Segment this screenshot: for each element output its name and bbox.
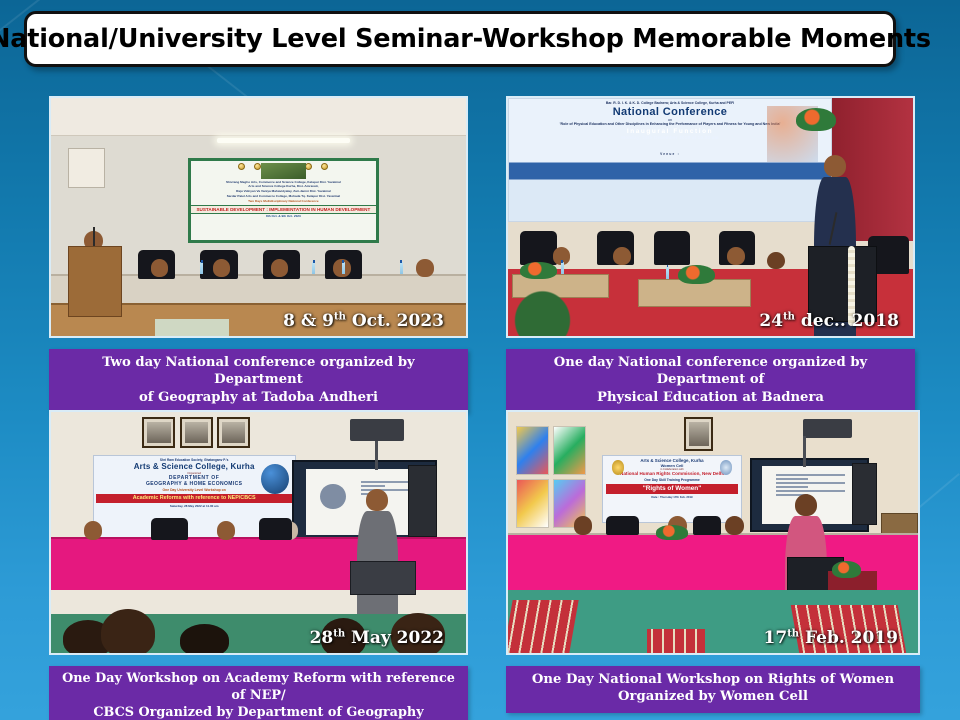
loudspeaker [852, 463, 877, 526]
projector-arm [375, 441, 378, 470]
caption-line-1: One day National conference organized by… [554, 355, 867, 387]
head [416, 259, 433, 276]
photo-frame-3: Shri Ram Education Society, Ghatanganv P… [49, 410, 468, 655]
globe-graphic [261, 464, 289, 494]
logo-icon [238, 163, 245, 170]
potted-plant [508, 284, 577, 336]
framed-portrait [217, 417, 250, 448]
banner-subhead: Two Days Multidisciplinary National Conf… [191, 199, 376, 204]
seated-dignitary [416, 259, 433, 276]
head [366, 489, 388, 511]
photo-frame-2: Bar. R. D. I. K. & K. D. College Badnera… [506, 96, 915, 338]
photo-scene-2: Bar. R. D. I. K. & K. D. College Badnera… [508, 98, 913, 336]
head [725, 516, 744, 535]
childrens-artwork [516, 426, 549, 474]
seated-panelist-female [725, 516, 744, 535]
carpet-runner [647, 629, 704, 653]
flower-arrangement [520, 262, 556, 279]
head [213, 259, 230, 276]
flower-pot [832, 561, 861, 578]
head [613, 247, 631, 265]
seated-panelist-female [574, 516, 593, 535]
head [271, 259, 288, 276]
water-bottle [312, 262, 315, 274]
flower-arrangement [796, 108, 837, 132]
projector [350, 419, 404, 441]
banner-photo [261, 163, 305, 179]
photo-caption-3: One Day Workshop on Academy Reform with … [49, 666, 468, 720]
photo-card-3: Shri Ram Education Society, Ghatanganv P… [49, 410, 468, 702]
title-box: National/University Level Seminar-Worksh… [24, 11, 896, 67]
chair [654, 231, 690, 264]
seated-panelist [217, 521, 235, 539]
seated-dignitary [151, 259, 168, 276]
banner-host: Bar. R. D. I. K. & K. D. College Badnera… [509, 101, 831, 105]
microphone [93, 227, 95, 246]
date-stamp-4: 17th Feb. 2019 [764, 628, 898, 648]
slide-text-line [776, 490, 845, 492]
slide-text-line [776, 486, 808, 488]
banner-when: Date : Thursday 17th Feb. 2019 [603, 495, 740, 499]
caption-line-2: Organized by Women Cell [514, 688, 912, 705]
head [727, 247, 745, 265]
date-stamp-3: 28th May 2022 [310, 628, 444, 648]
photo-caption-4: One Day National Workshop on Rights of W… [506, 666, 920, 713]
chair [693, 516, 722, 535]
logo-icon [305, 163, 312, 170]
photo-caption-2: One day National conference organized by… [506, 349, 915, 413]
caption-line-1: Two day National conference organized by… [102, 355, 414, 387]
podium [68, 246, 122, 317]
framed-portrait [684, 417, 713, 451]
head [824, 155, 846, 177]
caption-line-1: One Day National Workshop on Rights of W… [532, 672, 894, 687]
childrens-artwork [553, 426, 586, 474]
head [767, 252, 785, 270]
ceiling-light [217, 138, 350, 143]
portrait-photo [185, 422, 208, 444]
water-bottle [342, 262, 345, 274]
caption-line-2: CBCS Organized by Department of Geograph… [57, 705, 460, 720]
logo-icon [321, 163, 328, 170]
ceiling [51, 98, 466, 136]
seated-guest [613, 247, 631, 265]
water-bottle [666, 267, 669, 279]
audience-head [180, 624, 230, 653]
slide-text-line [776, 482, 845, 484]
seated-panelist [84, 521, 102, 539]
head [151, 259, 168, 276]
portrait-photo [222, 422, 245, 444]
water-bottle [400, 262, 403, 274]
banner-body: National Human Rights Commission, New De… [603, 471, 740, 476]
photo-caption-1: Two day National conference organized by… [49, 349, 468, 413]
slide-text-line [776, 478, 808, 480]
audience-head [101, 609, 155, 653]
photo-scene-3: Shri Ram Education Society, Ghatanganv P… [51, 412, 466, 653]
photo-card-1: Shivrang Megho Arts, Commerce and Scienc… [49, 96, 468, 386]
banner-when: Saturday, 28 May 2022 at 11.00 am [94, 504, 295, 508]
loudspeaker [408, 465, 437, 537]
slide-title-banner: National/University Level Seminar-Worksh… [24, 11, 896, 67]
standing-resource-person [366, 489, 388, 571]
framed-portrait [142, 417, 175, 448]
childrens-artwork [516, 479, 549, 527]
chair [606, 516, 639, 535]
photo-card-4: Arts & Science College, Kurha Women Cell… [506, 410, 920, 702]
chair [259, 518, 292, 540]
photo-frame-4: Arts & Science College, Kurha Women Cell… [506, 410, 920, 655]
slide-text-line [361, 481, 409, 483]
head [574, 516, 593, 535]
seated-dignitary [271, 259, 288, 276]
seated-guest-female [767, 252, 785, 270]
banner-date: 8th Oct. & 9th Oct. 2023 [191, 214, 376, 219]
projector-arm [803, 436, 806, 467]
banner-theme: Academic Reforms with reference to NEP/C… [96, 494, 293, 503]
wall-switchboard [68, 148, 105, 188]
photo-scene-1: Shivrang Megho Arts, Commerce and Scienc… [51, 98, 466, 336]
workshop-banner-4: Arts & Science College, Kurha Women Cell… [602, 455, 741, 522]
framed-portrait [180, 417, 213, 448]
seated-dignitary [213, 259, 230, 276]
conference-banner-1: Shivrang Megho Arts, Commerce and Scienc… [188, 158, 379, 244]
date-stamp-2: 24th dec.. 2018 [759, 311, 899, 331]
flower-pot [656, 525, 689, 539]
emblem-icon [612, 460, 624, 474]
portrait-photo [689, 422, 709, 446]
carpet-runner [508, 600, 578, 653]
head [84, 521, 102, 539]
projector [803, 419, 852, 438]
photo-card-2: Bar. R. D. I. K. & K. D. College Badnera… [506, 96, 915, 386]
head [795, 494, 817, 516]
caption-line-2: of Geography at Tadoba Andheri [57, 389, 460, 406]
slide-logo [320, 484, 345, 509]
water-bottle [200, 262, 203, 274]
chair [520, 231, 556, 264]
water-bottle [561, 262, 564, 274]
books-on-table [155, 319, 230, 336]
photo-scene-4: Arts & Science College, Kurha Women Cell… [508, 412, 918, 653]
banner-theme: SUSTAINABLE DEVELOPMENT : IMPLEMENTATION… [191, 205, 376, 214]
caption-line-1: One Day Workshop on Academy Reform with … [62, 671, 455, 703]
chair [151, 518, 188, 540]
photo-frame-1: Shivrang Megho Arts, Commerce and Scienc… [49, 96, 468, 338]
caption-line-2: Physical Education at Badnera [514, 389, 907, 406]
slide-text-line [776, 474, 845, 476]
banner-theme: "Rights of Women" [606, 484, 737, 494]
page-title: National/University Level Seminar-Worksh… [0, 24, 931, 54]
head [217, 521, 235, 539]
flower-arrangement [678, 265, 714, 284]
banner-event: One Day Skill Training Programme [603, 478, 740, 482]
conference-banner-2: Bar. R. D. I. K. & K. D. College Badnera… [508, 98, 832, 222]
date-stamp-1: 8 & 9th Oct. 2023 [283, 311, 444, 331]
portrait-photo [147, 422, 170, 444]
photo-grid: Shivrang Megho Arts, Commerce and Scienc… [0, 88, 960, 720]
slide-text-line [361, 485, 385, 487]
seated-guest [727, 247, 745, 265]
